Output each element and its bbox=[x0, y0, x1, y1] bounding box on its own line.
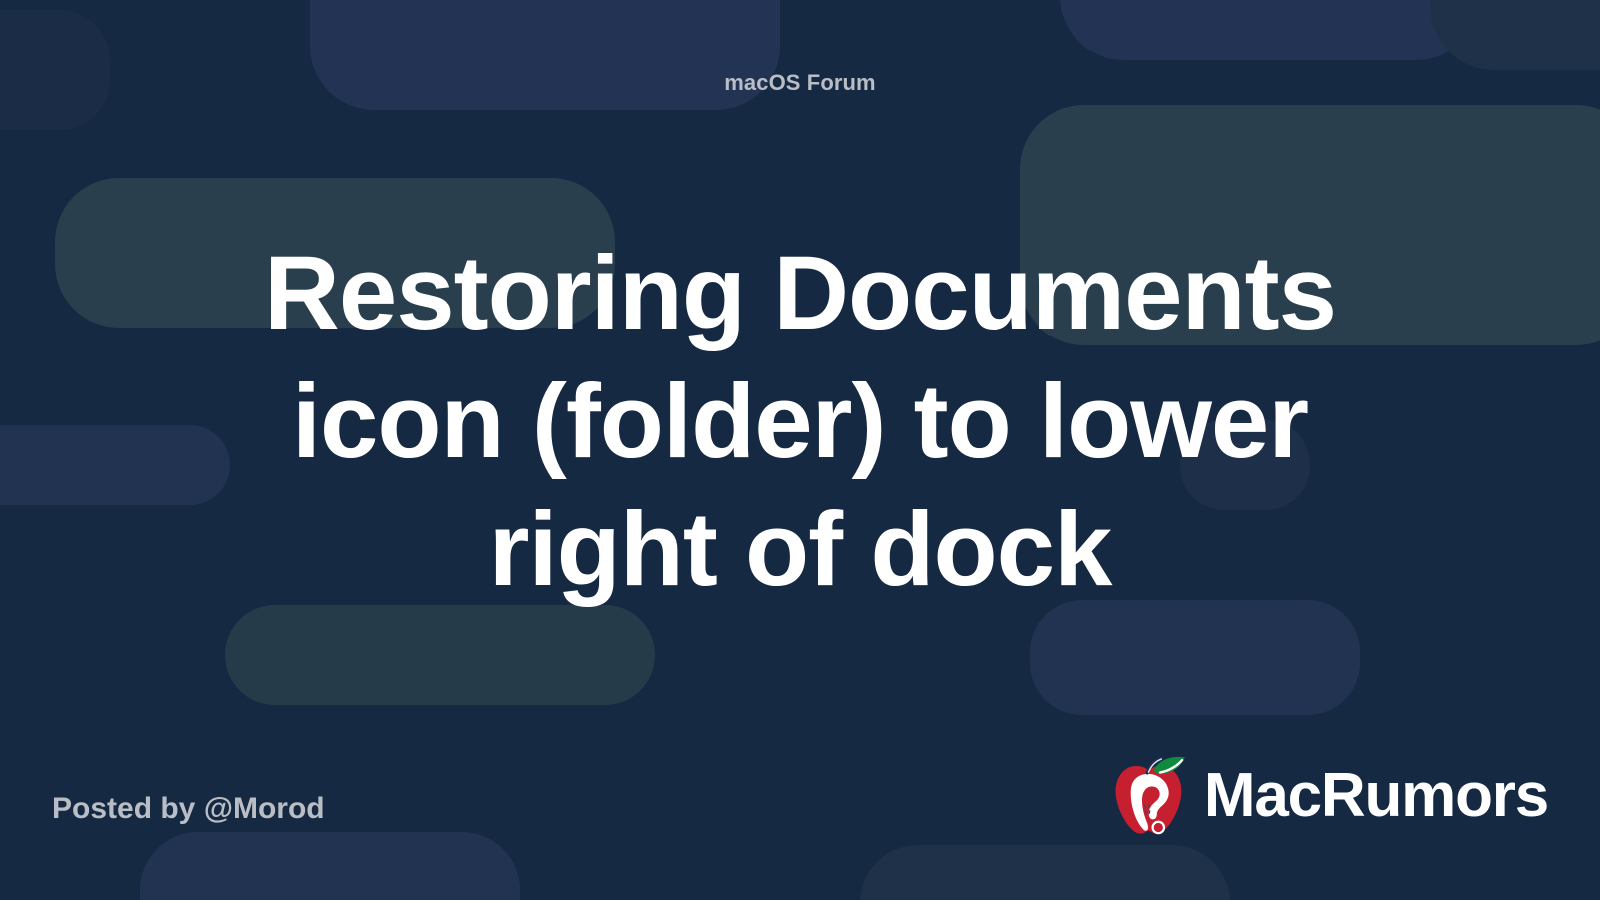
macrumors-apple-question-mark-icon bbox=[1102, 750, 1194, 842]
posted-by-label: Posted by @Morod bbox=[52, 794, 325, 842]
social-share-card: macOS Forum Restoring Documents icon (fo… bbox=[0, 0, 1600, 900]
title-container: Restoring Documents icon (folder) to low… bbox=[0, 94, 1600, 750]
macrumors-wordmark: MacRumors bbox=[1204, 765, 1548, 827]
card-footer: Posted by @Morod bbox=[0, 750, 1600, 900]
card-content: macOS Forum Restoring Documents icon (fo… bbox=[0, 0, 1600, 900]
macrumors-logo[interactable]: MacRumors bbox=[1102, 750, 1548, 842]
forum-label: macOS Forum bbox=[0, 72, 1600, 94]
page-title: Restoring Documents icon (folder) to low… bbox=[175, 230, 1425, 614]
